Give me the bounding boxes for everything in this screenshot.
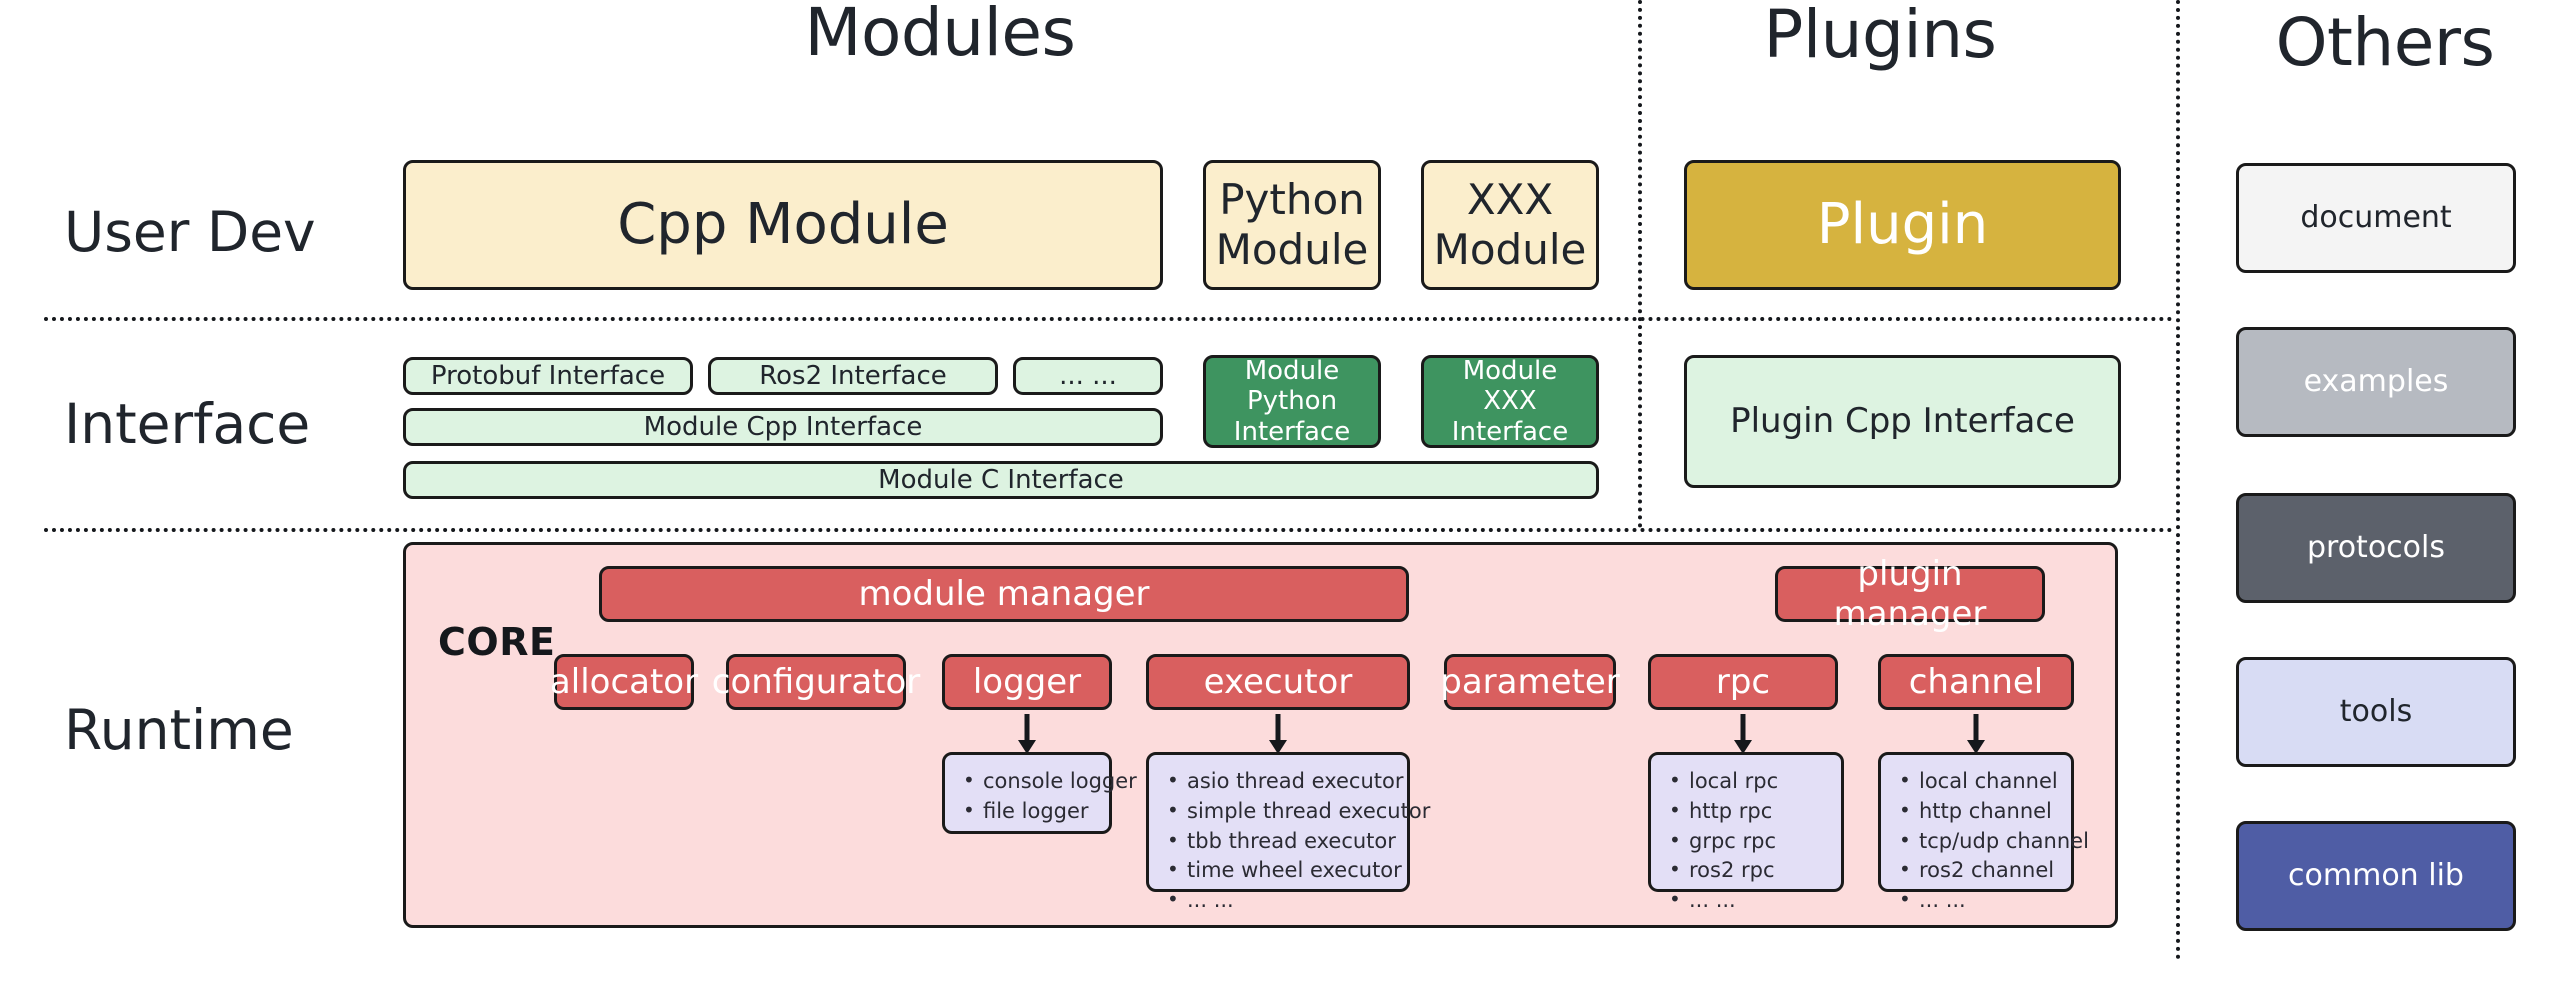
logger-items-list: console loggerfile logger [942, 752, 1112, 834]
logger-box[interactable]: logger [942, 654, 1112, 710]
protobuf-interface-box[interactable]: Protobuf Interface [403, 357, 693, 395]
configurator-box[interactable]: configurator [726, 654, 906, 710]
plugin-cpp-interface-box[interactable]: Plugin Cpp Interface [1684, 355, 2121, 488]
others-item-document[interactable]: document [2236, 163, 2516, 273]
divider-modules-plugins [1638, 0, 1642, 528]
allocator-box[interactable]: allocator [554, 654, 694, 710]
list-item: asio thread executor [1165, 767, 1393, 797]
divider-plugins-others [2176, 0, 2180, 960]
list-item: local channel [1897, 767, 2057, 797]
column-header-modules: Modules [640, 0, 1240, 71]
rpc-arrow-icon [1730, 712, 1756, 756]
others-item-common-lib[interactable]: common lib [2236, 821, 2516, 931]
list-item: ... ... [1667, 886, 1827, 916]
module-cpp-interface-box[interactable]: Module Cpp Interface [403, 408, 1163, 446]
list-item: tcp/udp channel [1897, 827, 2057, 857]
divider-interface-runtime [44, 528, 2174, 532]
list-item: tbb thread executor [1165, 827, 1393, 857]
parameter-box[interactable]: parameter [1444, 654, 1616, 710]
executor-arrow-icon [1265, 712, 1291, 756]
module-c-interface-box[interactable]: Module C Interface [403, 461, 1599, 499]
list-item: file logger [961, 797, 1095, 827]
list-item: local rpc [1667, 767, 1827, 797]
core-label: CORE [438, 620, 555, 664]
executor-box[interactable]: executor [1146, 654, 1410, 710]
column-header-plugins: Plugins [1700, 0, 2060, 73]
list-item: grpc rpc [1667, 827, 1827, 857]
python-module-box[interactable]: Python Module [1203, 160, 1381, 290]
others-item-tools[interactable]: tools [2236, 657, 2516, 767]
rpc-box[interactable]: rpc [1648, 654, 1838, 710]
plugin-manager-box[interactable]: plugin manager [1775, 566, 2045, 622]
channel-arrow-icon [1963, 712, 1989, 756]
ros2-interface-box[interactable]: Ros2 Interface [708, 357, 998, 395]
list-item: ... ... [1897, 886, 2057, 916]
divider-userdev-interface [44, 317, 2174, 321]
logger-arrow-icon [1014, 712, 1040, 756]
xxx-module-box[interactable]: XXX Module [1421, 160, 1599, 290]
channel-items-list: local channelhttp channeltcp/udp channel… [1878, 752, 2074, 892]
column-header-others: Others [2210, 4, 2560, 81]
logger-items-ul: console loggerfile logger [961, 767, 1095, 827]
list-item: time wheel executor [1165, 856, 1393, 886]
list-item: ros2 rpc [1667, 856, 1827, 886]
executor-items-list: asio thread executorsimple thread execut… [1146, 752, 1410, 892]
channel-box[interactable]: channel [1878, 654, 2074, 710]
plugin-box[interactable]: Plugin [1684, 160, 2121, 290]
list-item: simple thread executor [1165, 797, 1393, 827]
list-item: http rpc [1667, 797, 1827, 827]
module-xxx-interface-box[interactable]: Module XXX Interface [1421, 355, 1599, 448]
others-item-examples[interactable]: examples [2236, 327, 2516, 437]
rpc-items-ul: local rpchttp rpcgrpc rpcros2 rpc... ... [1667, 767, 1827, 916]
channel-items-ul: local channelhttp channeltcp/udp channel… [1897, 767, 2057, 916]
others-item-protocols[interactable]: protocols [2236, 493, 2516, 603]
list-item: console logger [961, 767, 1095, 797]
architecture-diagram: Modules Plugins Others User Dev Interfac… [0, 0, 2560, 984]
module-manager-box[interactable]: module manager [599, 566, 1409, 622]
row-label-interface: Interface [64, 392, 310, 456]
rpc-items-list: local rpchttp rpcgrpc rpcros2 rpc... ... [1648, 752, 1844, 892]
list-item: ros2 channel [1897, 856, 2057, 886]
cpp-module-box[interactable]: Cpp Module [403, 160, 1163, 290]
executor-items-ul: asio thread executorsimple thread execut… [1165, 767, 1393, 916]
list-item: ... ... [1165, 886, 1393, 916]
module-python-interface-box[interactable]: Module Python Interface [1203, 355, 1381, 448]
row-label-user-dev: User Dev [64, 200, 316, 264]
etc-interface-box[interactable]: ... ... [1013, 357, 1163, 395]
list-item: http channel [1897, 797, 2057, 827]
row-label-runtime: Runtime [64, 698, 294, 762]
